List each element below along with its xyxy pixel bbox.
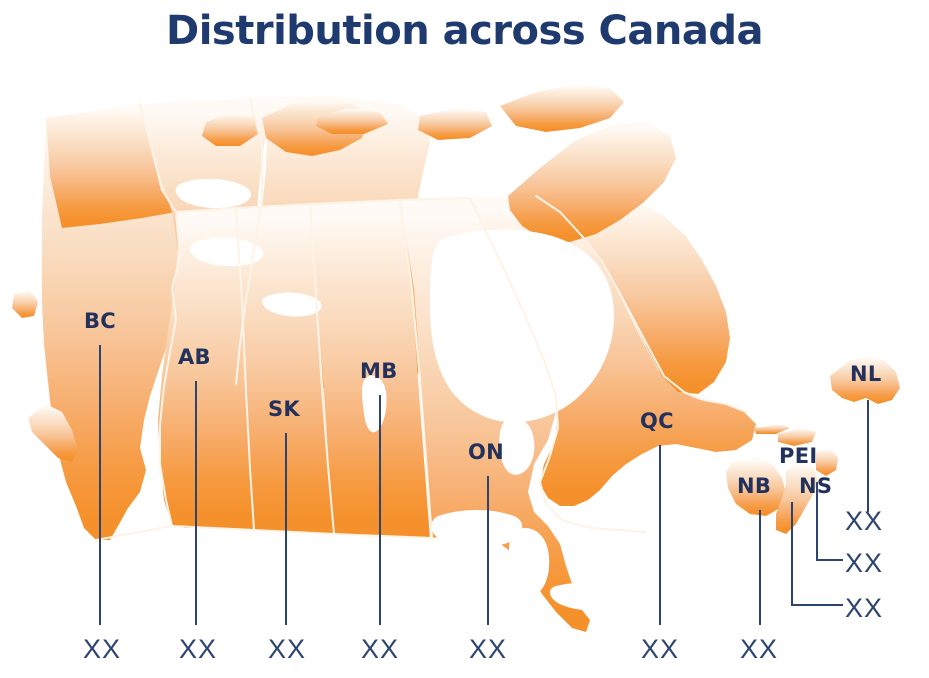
- value-qc: XX: [641, 634, 679, 665]
- great-lakes-superior: [431, 510, 522, 547]
- region-haida-gwaii: [12, 290, 38, 318]
- province-label-mb: MB: [360, 359, 398, 383]
- province-label-bc: BC: [84, 309, 116, 333]
- province-label-on: ON: [468, 440, 504, 464]
- value-mb: XX: [361, 634, 399, 665]
- region-cape-breton: [816, 448, 838, 476]
- value-ab: XX: [179, 634, 217, 665]
- province-label-ab: AB: [178, 345, 211, 369]
- province-label-nb: NB: [737, 474, 771, 498]
- value-bc: XX: [83, 634, 121, 665]
- value-sk: XX: [268, 634, 306, 665]
- region-devon-island: [418, 108, 492, 140]
- canada-map: [0, 0, 929, 678]
- canada-distribution-infographic: Distribution across Canada: [0, 0, 929, 678]
- value-nb: XX: [740, 634, 778, 665]
- value-on: XX: [469, 634, 507, 665]
- province-label-ns: NS: [799, 474, 832, 498]
- province-label-nl: NL: [850, 362, 882, 386]
- province-label-qc: QC: [640, 409, 674, 433]
- value-ns: XX: [845, 593, 883, 624]
- province-ns: [776, 462, 818, 534]
- province-label-pei: PEI: [779, 444, 817, 468]
- province-label-sk: SK: [268, 397, 300, 421]
- value-pei: XX: [845, 548, 883, 579]
- value-nl: XX: [845, 506, 883, 537]
- region-ellesmere-island: [500, 84, 624, 132]
